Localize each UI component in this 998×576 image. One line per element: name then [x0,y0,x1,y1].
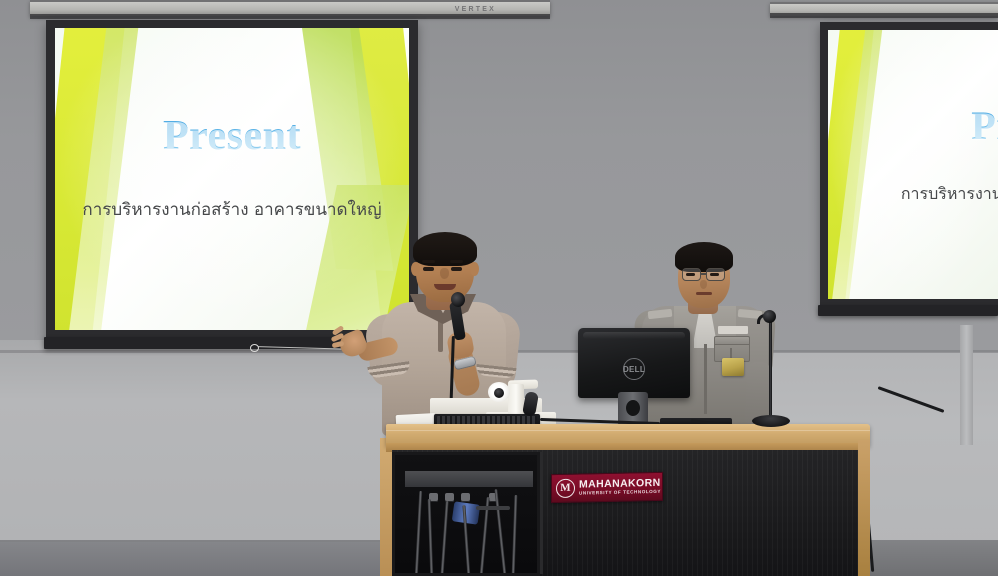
eyeglasses-bridge [700,273,707,275]
presenter-right-mouth [696,292,712,295]
cabinet-handle[interactable] [476,506,510,510]
monitor-stand-cable-hole [626,400,640,416]
floor-left [0,542,390,576]
gooseneck-microphone-base [752,415,790,427]
slide-subtitle-left: การบริหารงานก่อสร้าง อาคารขนาดใหญ่ [55,196,409,223]
presenter-right-eye-left [686,273,695,276]
mahanakorn-plaque-text: MAHANAKORN UNIVERSITY OF TECHNOLOGY [579,478,661,496]
presenter-left-eye-right [451,267,462,271]
screenshot-root: VERTEX Present การบริหารงานก่อสร้าง อาคา… [0,0,998,576]
presenter-right-name-patch [718,326,748,334]
presenter-right-pocket-flap [714,336,750,345]
slide-right: Pre การบริหารงานก่อ [828,30,998,299]
presenter-right-nose [700,280,707,289]
cabinet-cable-2 [428,499,434,576]
presenter-left-ear-right [470,262,479,276]
camera-lens-icon [494,388,504,398]
wall-lower-left [0,340,400,540]
gooseneck-microphone-head[interactable] [763,310,776,323]
slide-title-left: Present [55,112,409,160]
projector-screen-right: Pre การบริหารงานก่อ [820,22,998,308]
slide-subtitle-right: การบริหารงานก่อ [828,182,998,207]
cabinet-cable-1 [415,491,422,576]
housing-shadow-left [30,14,550,19]
slide-title-right: Pre [832,102,998,149]
desk-side-panel-right [858,440,870,576]
projection-area-right: Pre การบริหารงานก่อ [828,30,998,299]
cabinet-jack-3[interactable] [461,493,470,502]
gooseneck-microphone-stem[interactable] [769,318,772,418]
presenter-left-brow-right [450,260,463,263]
cabinet-door-edge[interactable] [540,452,543,574]
document-camera-column [508,384,524,416]
cabinet-cable-7 [512,495,518,576]
wall-post [960,325,973,445]
presenter-left-brow-left [422,260,435,263]
presenter-left-mouth [434,284,456,290]
mahanakorn-seal-icon: M [556,479,575,498]
mahanakorn-plaque: M MAHANAKORN UNIVERSITY OF TECHNOLOGY [551,472,663,503]
presenter-left-ear-left [411,262,420,276]
presenter-right-id-badge [722,358,744,376]
screen-pull-ring-left [250,344,259,352]
presenter-left-nose [440,268,449,279]
slide-light-wash-right [828,30,998,299]
housing-shadow-right [770,13,998,18]
equipment-cabinet[interactable] [392,452,540,576]
dell-logo-icon: DELL [623,358,645,380]
cabinet-cable-6 [494,489,506,576]
dell-monitor[interactable]: DELL [578,328,690,398]
cabinet-cable-3 [440,501,448,576]
screen-bottom-bar-right [818,305,998,316]
presenter-left-eye-left [423,267,434,271]
presenter-right-eye-right [710,273,719,276]
projector-brand-label: VERTEX [455,6,496,13]
presenter-right-jacket-zip [704,344,707,414]
cabinet-shelf [405,471,533,487]
mahanakorn-university-subtitle: UNIVERSITY OF TECHNOLOGY [579,490,661,496]
